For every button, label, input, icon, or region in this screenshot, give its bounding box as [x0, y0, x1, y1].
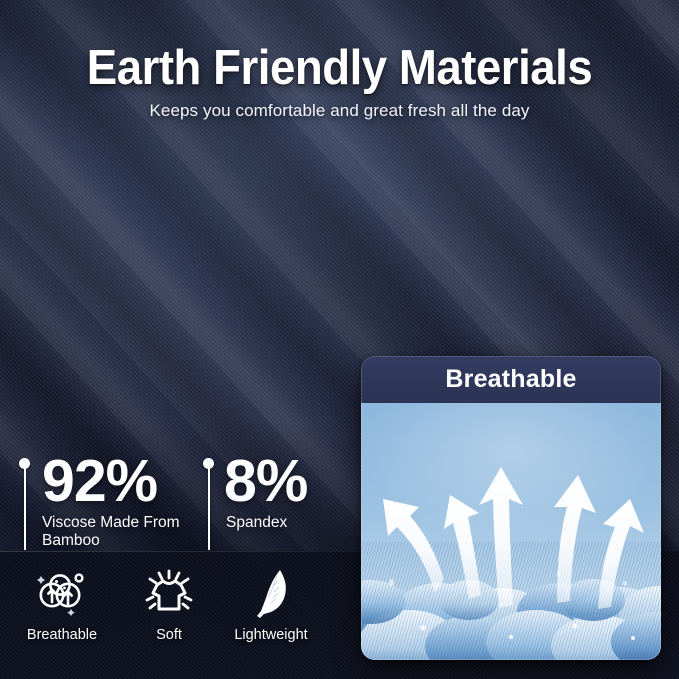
feature-soft: Soft: [116, 565, 222, 643]
soft-fabric-icon: [116, 565, 222, 623]
pin-marker-icon: [18, 458, 32, 550]
feature-label: Soft: [116, 627, 222, 643]
feature-label: Breathable: [9, 627, 115, 643]
water-droplet: [557, 571, 561, 577]
pin-marker-icon: [202, 458, 216, 550]
stat-caption: Viscose Made From Bamboo: [42, 514, 222, 551]
feature-label: Lightweight: [218, 627, 324, 643]
water-droplet: [623, 581, 627, 586]
pin-stem: [24, 467, 27, 550]
stat-caption: Spandex: [226, 514, 366, 532]
feature-lightweight: Lightweight: [218, 565, 324, 643]
stat-value: 8%: [224, 452, 307, 511]
pin-stem: [208, 467, 211, 550]
water-droplet: [389, 579, 394, 586]
feature-breathable: Breathable: [9, 565, 115, 643]
page-title: Earth Friendly Materials: [24, 40, 655, 96]
breathable-airflow-icon: [9, 565, 115, 623]
page-subtitle: Keeps you comfortable and great fresh al…: [0, 101, 679, 121]
stat-value: 92%: [42, 452, 157, 511]
card-illustration: [361, 403, 661, 660]
airflow-arrows-icon: [361, 403, 661, 660]
product-feature-image: Earth Friendly Materials Keeps you comfo…: [0, 0, 679, 679]
card-header: Breathable: [361, 356, 661, 403]
breathable-card: Breathable: [361, 356, 661, 660]
feather-icon: [218, 565, 324, 623]
card-title: Breathable: [445, 365, 576, 394]
